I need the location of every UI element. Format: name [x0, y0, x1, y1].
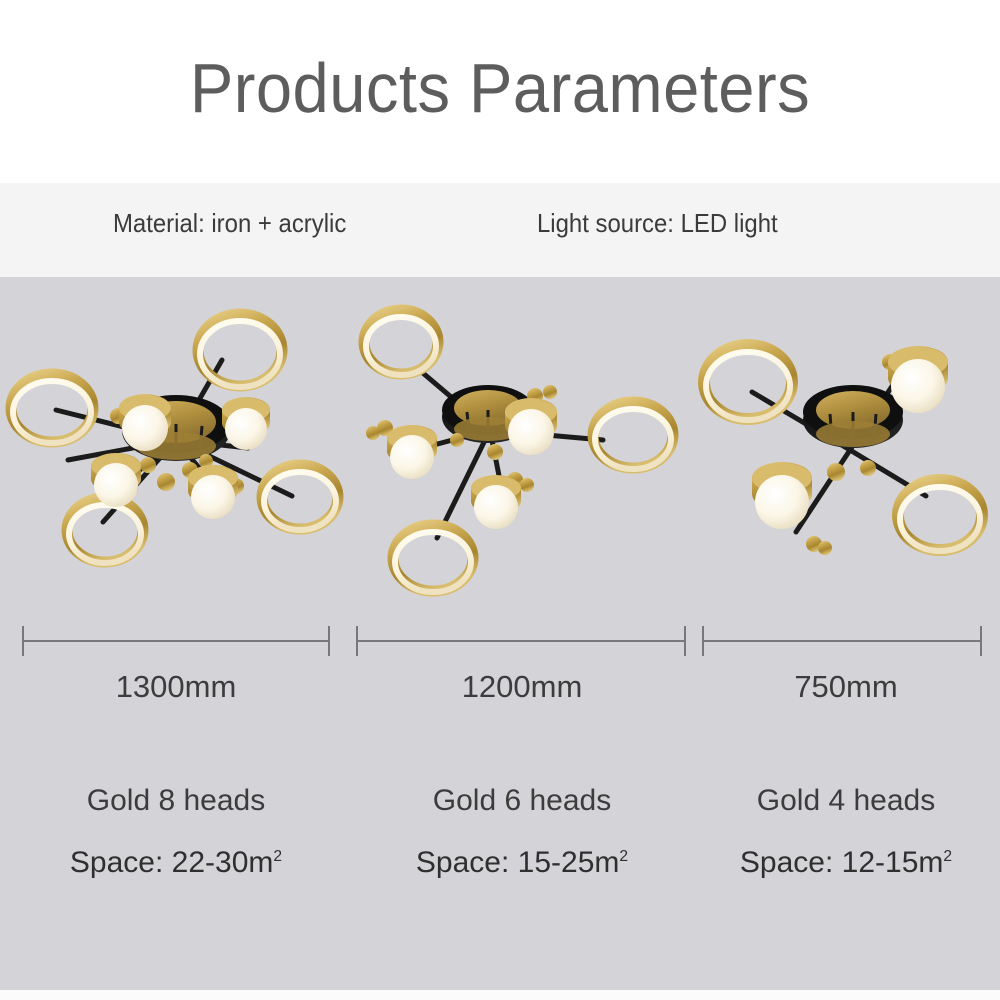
dimension-rule [702, 640, 982, 642]
dimension-cap-right [980, 626, 982, 656]
ring-light [393, 525, 473, 592]
ring-light [67, 498, 143, 563]
page-title: Products Parameters [35, 46, 965, 130]
product-caption-gold-6-heads: Gold 6 heads Space: 15-25m2 [352, 778, 692, 886]
product-parameters-page: Products Parameters Material: iron + acr… [0, 0, 1000, 1000]
space-range: Space: 15-25 [416, 846, 594, 879]
space-exponent: 2 [943, 848, 952, 865]
dimension-rule [22, 640, 330, 642]
ring-light [262, 465, 338, 530]
space-range: Space: 12-15 [740, 846, 918, 879]
heads-label: Gold 8 heads [0, 778, 352, 824]
heads-label: Gold 6 heads [352, 778, 692, 824]
dome-light [188, 465, 238, 519]
space-range: Space: 22-30 [70, 846, 248, 879]
product-image-gold-4-heads [690, 300, 995, 610]
product-caption-gold-8-heads: Gold 8 heads Space: 22-30m2 [0, 778, 352, 886]
product-image-gold-6-heads [355, 300, 685, 610]
ring-light [364, 310, 438, 375]
dimension-rule [356, 640, 686, 642]
dome-light [752, 462, 812, 529]
product-image-gold-8-heads [0, 300, 350, 610]
space-unit: m [918, 846, 943, 879]
space-unit: m [594, 846, 619, 879]
space-exponent: 2 [619, 848, 628, 865]
dome-light [471, 475, 521, 529]
ring-light [898, 480, 982, 551]
ring-light [11, 374, 93, 443]
spec-material: Material: iron + acrylic [113, 206, 346, 240]
dome-light [387, 425, 437, 479]
space-label: Space: 15-25m2 [352, 840, 692, 886]
footer-strip [0, 990, 1000, 1000]
dimension-line-gold-4-heads [702, 626, 982, 660]
dimension-cap-right [328, 626, 330, 656]
dimension-cap-right [684, 626, 686, 656]
dome-light [222, 397, 270, 450]
dome-light [888, 346, 948, 413]
dimension-line-gold-6-heads [356, 626, 686, 660]
ceiling-mount-hub [803, 385, 903, 448]
dimension-line-gold-8-heads [22, 626, 330, 660]
dome-light [505, 398, 557, 455]
space-exponent: 2 [273, 848, 282, 865]
space-label: Space: 22-30m2 [0, 840, 352, 886]
space-label: Space: 12-15m2 [692, 840, 1000, 886]
space-unit: m [248, 846, 273, 879]
ring-light [593, 402, 673, 469]
product-caption-gold-4-heads: Gold 4 heads Space: 12-15m2 [692, 778, 1000, 886]
dimension-label-gold-6-heads: 1200mm [352, 666, 692, 708]
ring-light [704, 345, 792, 420]
dimension-label-gold-4-heads: 750mm [692, 666, 1000, 708]
dimension-label-gold-8-heads: 1300mm [0, 666, 352, 708]
heads-label: Gold 4 heads [692, 778, 1000, 824]
ring-light [198, 314, 282, 387]
spec-light-source: Light source: LED light [537, 206, 778, 240]
